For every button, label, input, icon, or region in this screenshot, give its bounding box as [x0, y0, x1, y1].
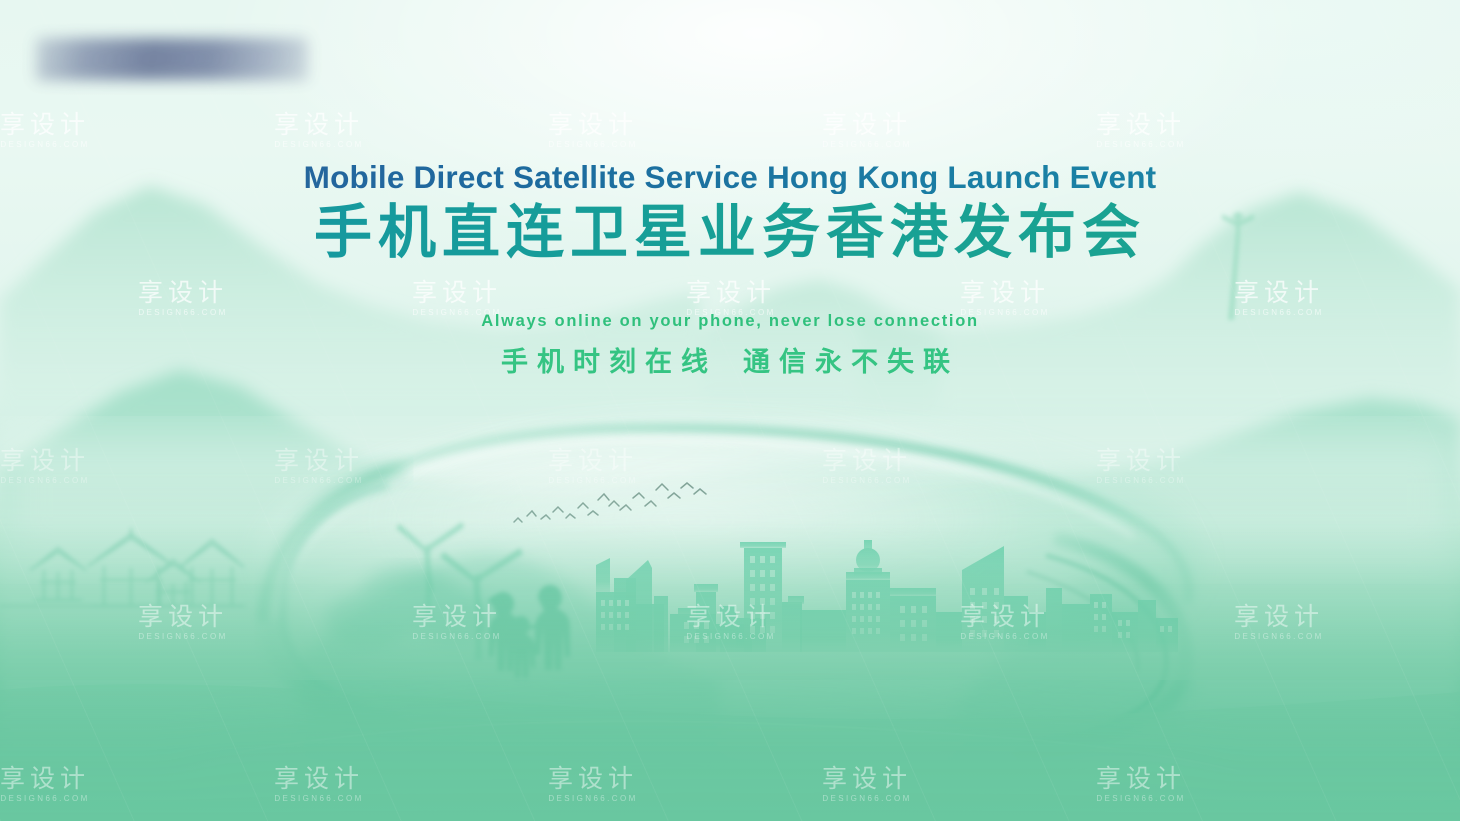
watermark-tile: 享设计 DESIGN66.COM [1096, 766, 1186, 803]
watermark-text: 享设计 [1096, 112, 1186, 139]
watermark-text: 享设计 [412, 280, 502, 307]
watermark-subtext: DESIGN66.COM [960, 633, 1050, 641]
watermark-tile: 享设计 DESIGN66.COM [1234, 604, 1324, 641]
watermark-subtext: DESIGN66.COM [686, 309, 776, 317]
watermark-subtext: DESIGN66.COM [1234, 309, 1324, 317]
watermark-subtext: DESIGN66.COM [960, 309, 1050, 317]
watermark-subtext: DESIGN66.COM [1096, 795, 1186, 803]
watermark-subtext: DESIGN66.COM [274, 477, 364, 485]
watermark-tile: 享设计 DESIGN66.COM [412, 280, 502, 317]
watermark-subtext: DESIGN66.COM [412, 309, 502, 317]
watermark-tile: 享设计 DESIGN66.COM [960, 280, 1050, 317]
watermark-layer: 享设计 DESIGN66.COM 享设计 DESIGN66.COM 享设计 DE… [0, 0, 1460, 821]
watermark-tile: 享设计 DESIGN66.COM [0, 766, 90, 803]
watermark-tile: 享设计 DESIGN66.COM [548, 448, 638, 485]
watermark-subtext: DESIGN66.COM [548, 795, 638, 803]
watermark-text: 享设计 [138, 280, 228, 307]
watermark-tile: 享设计 DESIGN66.COM [0, 448, 90, 485]
watermark-subtext: DESIGN66.COM [686, 633, 776, 641]
watermark-text: 享设计 [686, 604, 776, 631]
watermark-subtext: DESIGN66.COM [822, 477, 912, 485]
watermark-text: 享设计 [412, 604, 502, 631]
watermark-text: 享设计 [686, 280, 776, 307]
watermark-tile: 享设计 DESIGN66.COM [138, 280, 228, 317]
watermark-tile: 享设计 DESIGN66.COM [138, 604, 228, 641]
watermark-subtext: DESIGN66.COM [138, 633, 228, 641]
watermark-tile: 享设计 DESIGN66.COM [0, 112, 90, 149]
watermark-subtext: DESIGN66.COM [138, 309, 228, 317]
watermark-tile: 享设计 DESIGN66.COM [686, 604, 776, 641]
watermark-tile: 享设计 DESIGN66.COM [960, 604, 1050, 641]
watermark-subtext: DESIGN66.COM [1234, 633, 1324, 641]
watermark-text: 享设计 [274, 448, 364, 475]
watermark-tile: 享设计 DESIGN66.COM [822, 112, 912, 149]
watermark-tile: 享设计 DESIGN66.COM [1096, 448, 1186, 485]
watermark-subtext: DESIGN66.COM [0, 477, 90, 485]
watermark-tile: 享设计 DESIGN66.COM [1096, 112, 1186, 149]
watermark-text: 享设计 [1096, 448, 1186, 475]
watermark-subtext: DESIGN66.COM [822, 795, 912, 803]
watermark-tile: 享设计 DESIGN66.COM [686, 280, 776, 317]
watermark-tile: 享设计 DESIGN66.COM [412, 604, 502, 641]
watermark-text: 享设计 [274, 766, 364, 793]
watermark-text: 享设计 [960, 280, 1050, 307]
watermark-text: 享设计 [0, 448, 90, 475]
watermark-subtext: DESIGN66.COM [274, 795, 364, 803]
watermark-subtext: DESIGN66.COM [548, 141, 638, 149]
event-poster: 享设计 DESIGN66.COM 享设计 DESIGN66.COM 享设计 DE… [0, 0, 1460, 821]
watermark-text: 享设计 [0, 766, 90, 793]
watermark-text: 享设计 [548, 448, 638, 475]
watermark-hairlines [0, 0, 1460, 821]
watermark-subtext: DESIGN66.COM [548, 477, 638, 485]
watermark-text: 享设计 [138, 604, 228, 631]
blurred-logo [36, 38, 308, 80]
watermark-text: 享设计 [548, 112, 638, 139]
watermark-subtext: DESIGN66.COM [1096, 477, 1186, 485]
watermark-text: 享设计 [960, 604, 1050, 631]
watermark-tile: 享设计 DESIGN66.COM [822, 766, 912, 803]
watermark-tile: 享设计 DESIGN66.COM [548, 112, 638, 149]
watermark-subtext: DESIGN66.COM [0, 795, 90, 803]
watermark-subtext: DESIGN66.COM [412, 633, 502, 641]
watermark-text: 享设计 [274, 112, 364, 139]
watermark-subtext: DESIGN66.COM [1096, 141, 1186, 149]
watermark-tile: 享设计 DESIGN66.COM [274, 112, 364, 149]
watermark-text: 享设计 [822, 766, 912, 793]
watermark-text: 享设计 [822, 448, 912, 475]
watermark-tile: 享设计 DESIGN66.COM [274, 766, 364, 803]
watermark-text: 享设计 [1234, 280, 1324, 307]
watermark-text: 享设计 [1096, 766, 1186, 793]
logo-blur-smudge [36, 38, 308, 80]
watermark-text: 享设计 [0, 112, 90, 139]
watermark-subtext: DESIGN66.COM [274, 141, 364, 149]
watermark-text: 享设计 [822, 112, 912, 139]
watermark-tile: 享设计 DESIGN66.COM [548, 766, 638, 803]
watermark-tile: 享设计 DESIGN66.COM [274, 448, 364, 485]
watermark-text: 享设计 [1234, 604, 1324, 631]
watermark-tile: 享设计 DESIGN66.COM [1234, 280, 1324, 317]
watermark-text: 享设计 [548, 766, 638, 793]
watermark-tile: 享设计 DESIGN66.COM [822, 448, 912, 485]
watermark-subtext: DESIGN66.COM [822, 141, 912, 149]
watermark-subtext: DESIGN66.COM [0, 141, 90, 149]
